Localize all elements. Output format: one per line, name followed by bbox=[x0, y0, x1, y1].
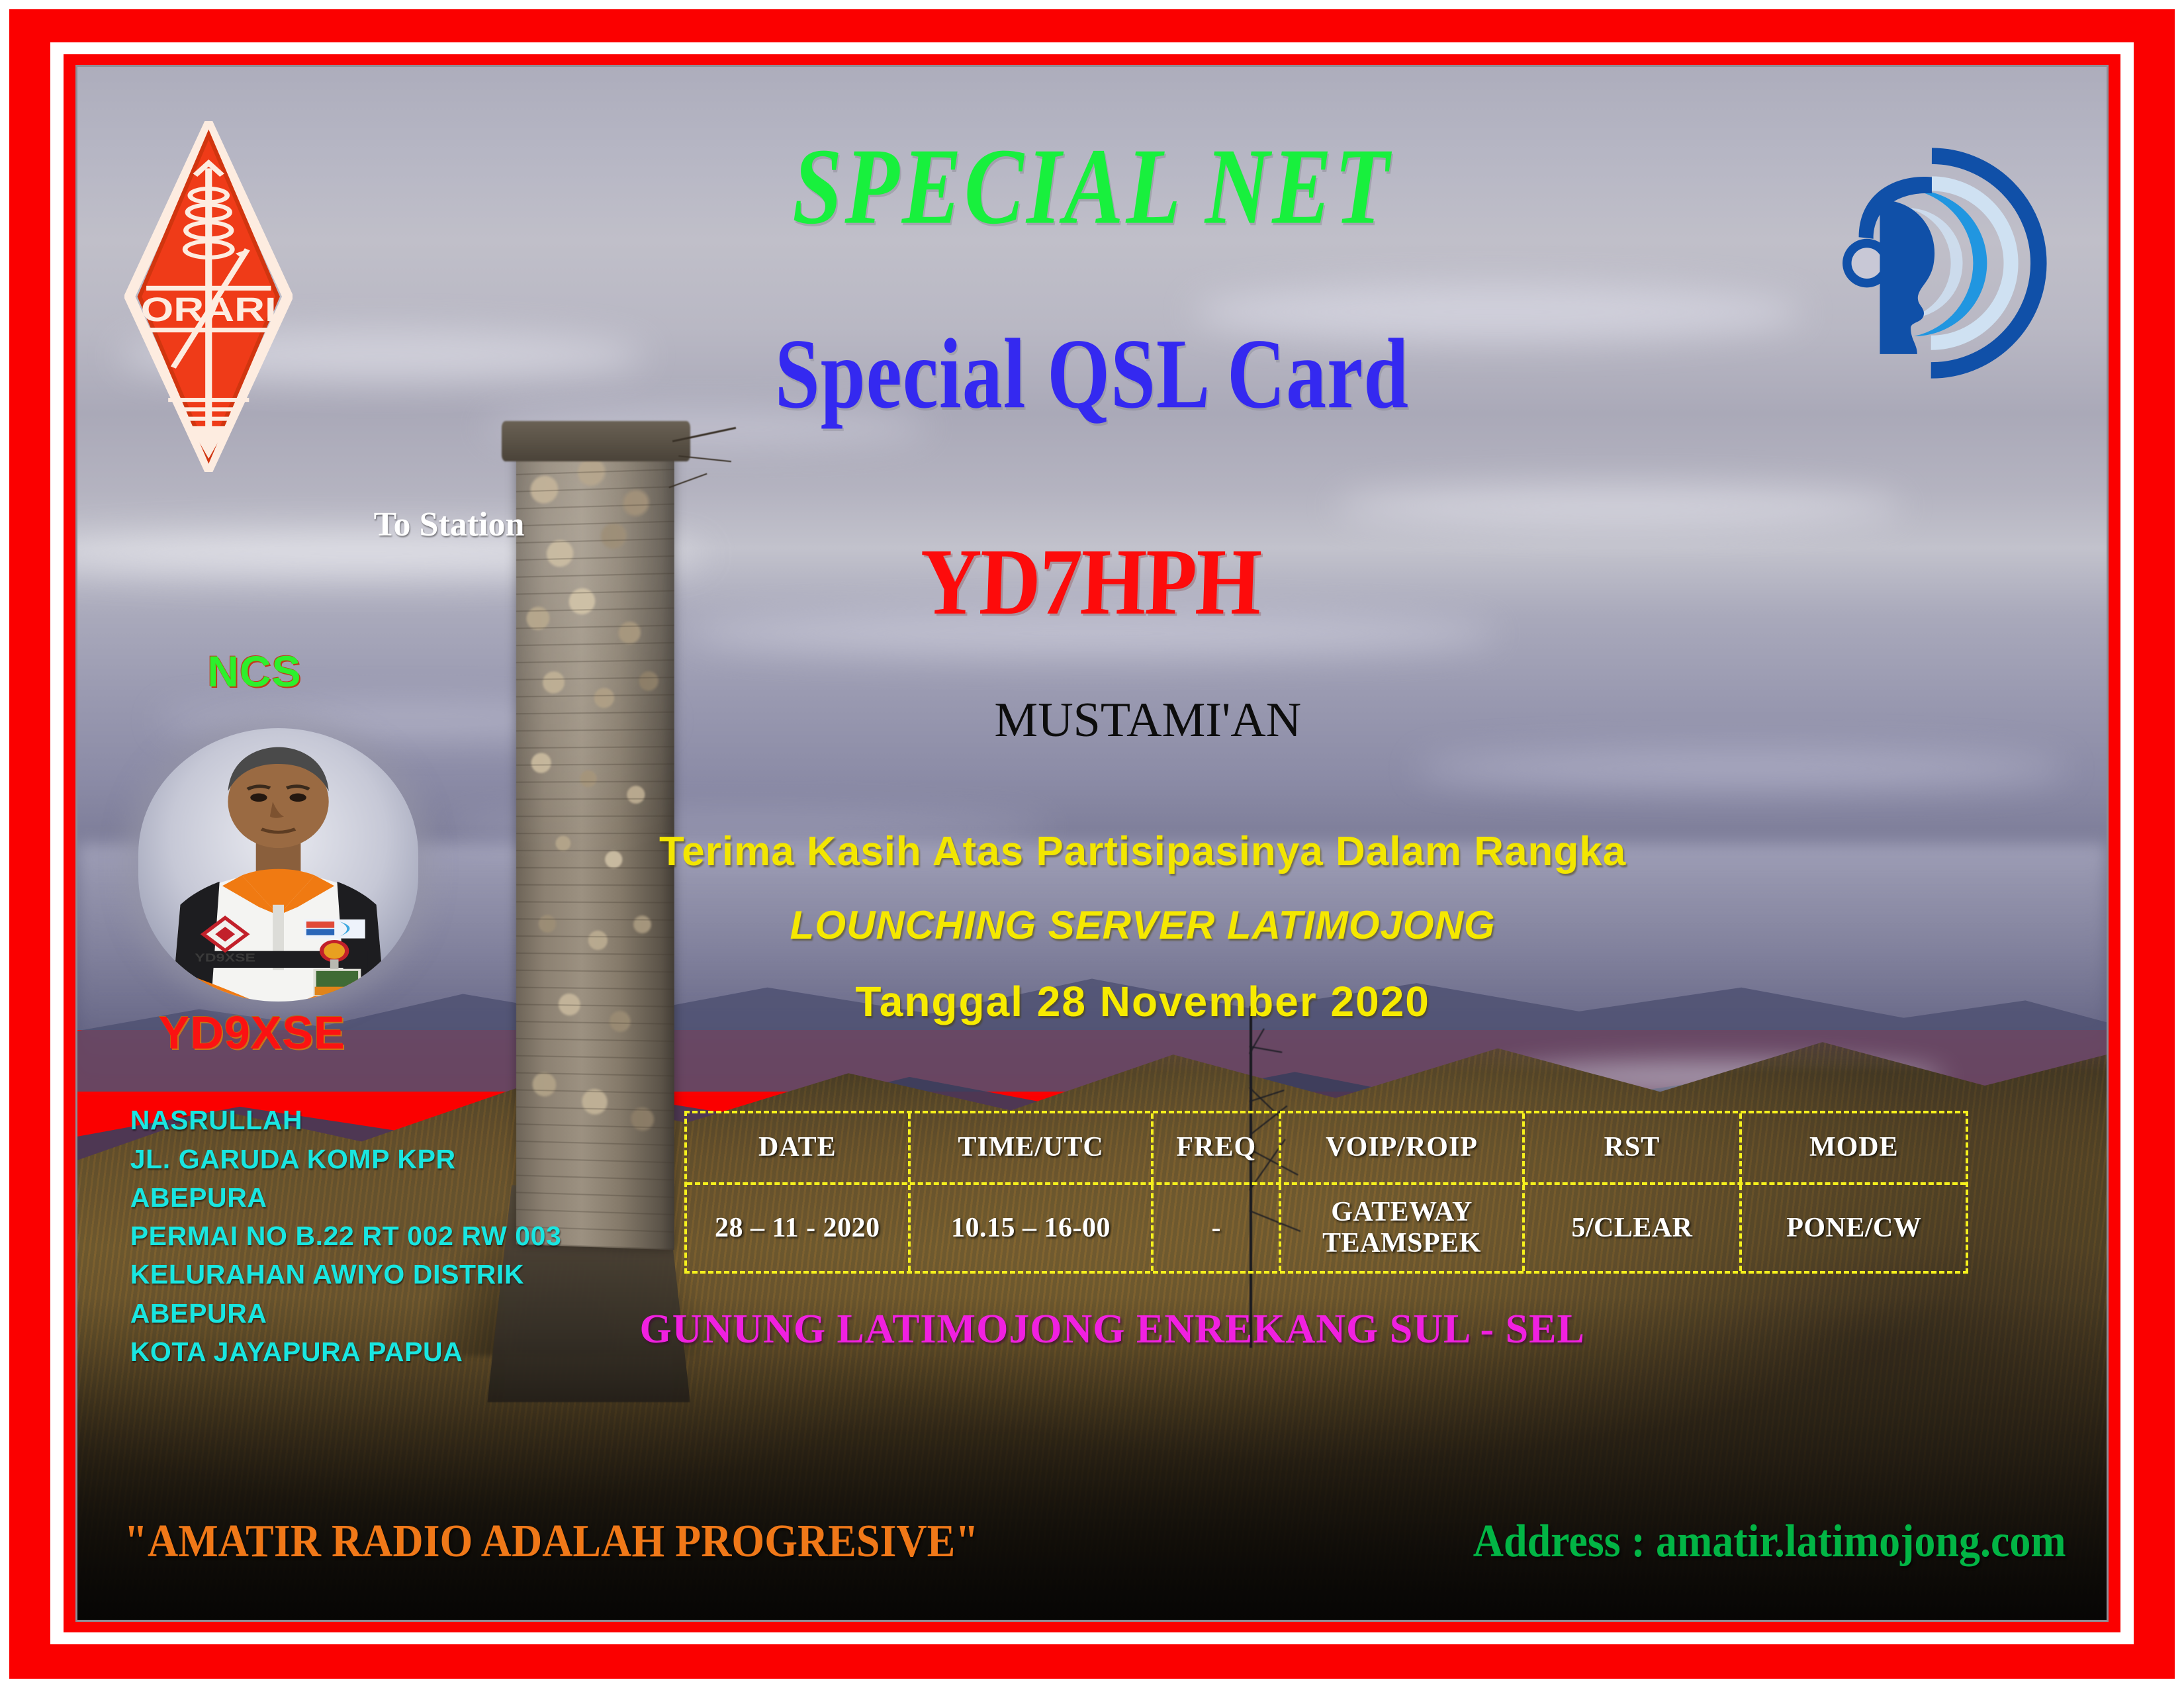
address-line: KELURAHAN AWIYO DISTRIK bbox=[130, 1255, 739, 1293]
table-cell-date: 28 – 11 - 2020 bbox=[687, 1185, 911, 1270]
table-row: 28 – 11 - 2020 10.15 – 16-00 - GATEWAY T… bbox=[687, 1185, 1966, 1270]
table-header-voip-roip: VOIP/ROIP bbox=[1281, 1113, 1524, 1183]
uniform-callsign-text: YD9XSE bbox=[195, 952, 255, 965]
white-border-gap: ORARI bbox=[50, 42, 2134, 1644]
outer-red-border: ORARI bbox=[9, 9, 2175, 1679]
address-line: NASRULLAH bbox=[130, 1101, 739, 1139]
recipient-callsign: YD7HPH bbox=[919, 534, 1262, 629]
event-name-line: LOUNCHING SERVER LATIMOJONG bbox=[77, 902, 2107, 948]
inner-red-border: ORARI bbox=[64, 54, 2120, 1632]
table-header-mode: MODE bbox=[1742, 1113, 1966, 1183]
ncs-label: NCS bbox=[207, 646, 301, 696]
to-station-label: To Station bbox=[374, 505, 525, 544]
address-line: PERMAI NO B.22 RT 002 RW 003 bbox=[130, 1217, 739, 1255]
table-cell-voip-roip: GATEWAY TEAMSPEK bbox=[1281, 1185, 1524, 1270]
address-line: ABEPURA bbox=[130, 1178, 739, 1217]
table-header-row: DATE TIME/UTC FREQ VOIP/ROIP RST MODE bbox=[687, 1113, 1966, 1186]
operator-name: MUSTAMI'AN bbox=[77, 692, 2107, 749]
thanks-line-1: Terima Kasih Atas Partisipasinya Dalam R… bbox=[77, 828, 2107, 875]
location-caption: GUNUNG LATIMOJONG ENREKANG SUL - SEL bbox=[77, 1306, 2107, 1353]
event-date-line: Tanggal 28 November 2020 bbox=[77, 977, 2107, 1026]
table-header-freq: FREQ bbox=[1154, 1113, 1281, 1183]
address-line: JL. GARUDA KOMP KPR bbox=[130, 1140, 739, 1178]
page-subtitle-special-qsl-card: Special QSL Card bbox=[77, 324, 2107, 424]
table-cell-rst: 5/CLEAR bbox=[1525, 1185, 1743, 1270]
table-header-date: DATE bbox=[687, 1113, 911, 1183]
orari-logo-text: ORARI bbox=[140, 291, 276, 329]
table-header-rst: RST bbox=[1525, 1113, 1743, 1183]
footer-web-address: Address : amatir.latimojong.com bbox=[1473, 1514, 2066, 1568]
qsl-card: ORARI bbox=[0, 0, 2184, 1688]
footer-slogan: "AMATIR RADIO ADALAH PROGRESIVE" bbox=[124, 1514, 979, 1568]
page-title-special-net: SPECIAL NET bbox=[77, 132, 2107, 242]
qso-details-table: DATE TIME/UTC FREQ VOIP/ROIP RST MODE 28… bbox=[684, 1111, 1969, 1274]
table-cell-mode: PONE/CW bbox=[1742, 1185, 1966, 1270]
table-cell-time-utc: 10.15 – 16-00 bbox=[911, 1185, 1154, 1270]
table-header-time-utc: TIME/UTC bbox=[911, 1113, 1154, 1183]
card-photo-stage: ORARI bbox=[75, 65, 2109, 1622]
table-cell-freq: - bbox=[1154, 1185, 1281, 1270]
